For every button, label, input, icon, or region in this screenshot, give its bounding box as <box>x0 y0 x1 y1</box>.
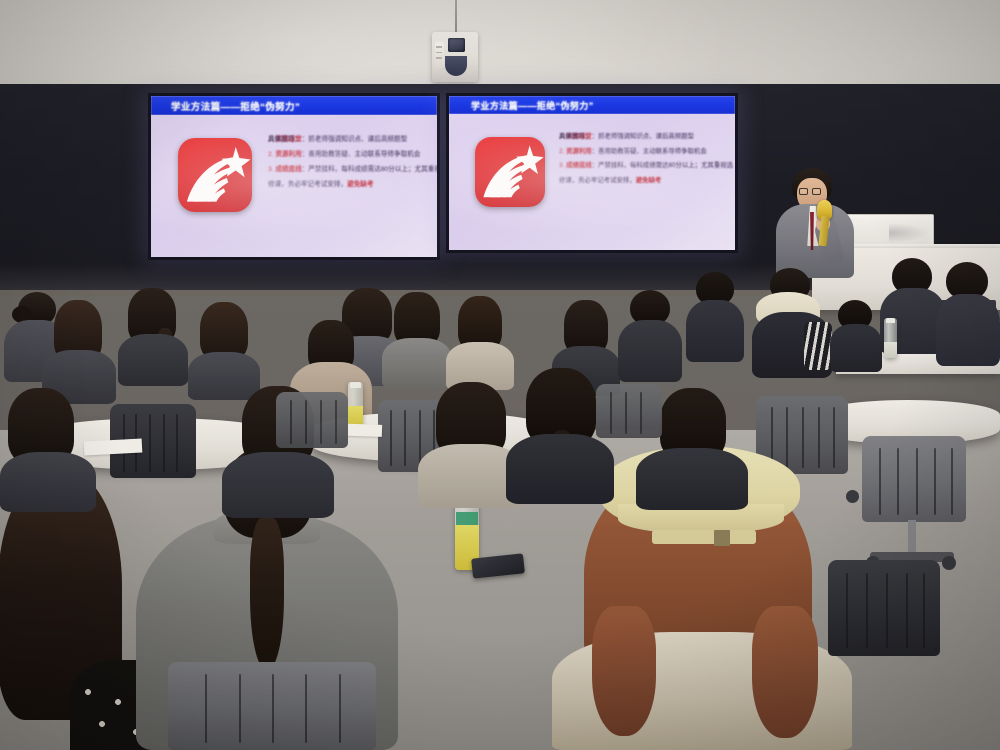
chair-mid-4[interactable] <box>862 436 966 522</box>
student-back-right-3 <box>686 272 744 362</box>
student-auburn-hair-front-right <box>752 606 818 738</box>
student-body <box>118 334 188 386</box>
student-back-right-2 <box>938 262 1000 366</box>
chair-front-center[interactable] <box>168 662 376 750</box>
student-back-mid-4 <box>382 292 452 388</box>
presenter <box>760 168 880 278</box>
sleeve-stripes <box>804 322 832 370</box>
chair-slats <box>839 573 929 648</box>
baseball-cap-buckle <box>714 530 730 546</box>
student-body <box>936 294 1000 366</box>
chair-caster <box>942 556 956 570</box>
camera-lens-icon <box>448 38 465 52</box>
student-back-mid-6 <box>618 290 682 382</box>
chair-front-right[interactable] <box>828 560 940 656</box>
chair-row-b[interactable] <box>596 384 662 438</box>
student-braid <box>250 518 284 670</box>
chair-slats <box>603 392 656 434</box>
ceiling-cable <box>455 0 457 36</box>
student-body <box>382 338 452 388</box>
bottle-cap <box>886 318 895 323</box>
right-display-bezel <box>446 93 738 253</box>
student-auburn-hair-front <box>592 606 656 736</box>
drink-bottle-right <box>884 318 897 358</box>
chair-slats <box>189 674 355 743</box>
student-mid-row-5 <box>0 388 96 512</box>
chair-row-a[interactable] <box>276 392 348 448</box>
chair-slats <box>872 448 955 515</box>
student-body <box>686 300 744 362</box>
chair-slats <box>283 400 341 444</box>
classroom-photo: 学业方法篇——拒绝“伪努力” 具体技巧： <box>0 0 1000 750</box>
camera-side-strip <box>435 42 444 68</box>
student-body <box>0 452 96 512</box>
student-body <box>506 434 614 504</box>
camera-dome-icon <box>445 56 467 76</box>
bottle-liquid <box>884 342 897 358</box>
student-back-left-3 <box>118 288 188 386</box>
student-back-right-5 <box>830 300 882 372</box>
student-body <box>636 448 748 510</box>
chair-post-right <box>908 520 916 556</box>
student-back-right-4-hoodie <box>748 268 832 378</box>
baseball-cap-strap <box>652 530 756 544</box>
bottle-label <box>456 512 477 524</box>
wall-mounted-camera-icon <box>432 32 478 82</box>
left-display[interactable]: 学业方法篇——拒绝“伪努力” 具体技巧： <box>148 93 440 260</box>
student-body <box>222 452 334 518</box>
glasses-icon <box>799 188 825 196</box>
left-display-bezel <box>148 93 440 260</box>
right-display[interactable]: 学业方法篇——拒绝“伪努力” 具体技巧： <box>446 93 738 253</box>
student-body <box>618 320 682 382</box>
bottle-cap <box>350 382 361 388</box>
student-back-mid-7 <box>446 296 514 390</box>
student-body <box>830 324 882 372</box>
